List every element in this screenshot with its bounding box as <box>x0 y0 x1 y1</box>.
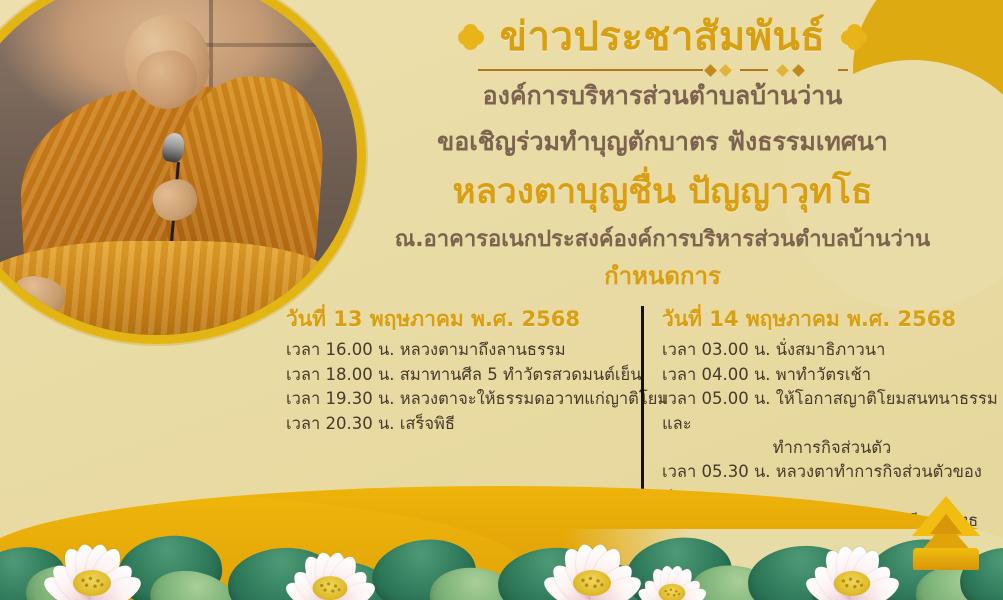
organization-name: องค์การบริหารส่วนตำบลบ้านว่าน <box>330 79 995 113</box>
title-divider-ornament <box>478 63 848 77</box>
schedule-item: เวลา 03.00 น. นั่งสมาธิภาวนา <box>662 338 1002 362</box>
quatrefoil-ornament-left-icon <box>458 24 484 50</box>
band-gold-left <box>0 486 522 600</box>
venue-line: ณ.อาคารอเนกประสงค์องค์การบริหารส่วนตำบลบ… <box>330 225 995 255</box>
band-fade-right <box>564 529 1003 600</box>
schedule-item: เวลา 19.30 น. หลวงตาจะให้ธรรมดอวาทแก่ญาต… <box>286 387 631 411</box>
schedule-item: เวลา 05.00 น. ให้โอกาสญาติโยมสนทนาธรรมแล… <box>662 387 1002 436</box>
schedule-item: เวลา 04.00 น. พาทำวัตรเช้า <box>662 363 1002 387</box>
agenda-heading: กำหนดการ <box>330 262 995 291</box>
title-row: ข่าวประชาสัมพันธ์ <box>330 14 995 60</box>
day1-heading: วันที่ 13 พฤษภาคม พ.ศ. 2568 <box>286 306 631 333</box>
schedule-item: ทำการกิจส่วนตัว <box>662 436 1002 460</box>
monk-name-heading: หลวงตาบุญชื่น ปัญญาวุทโธ <box>330 171 995 215</box>
schedule-item: เวลา 18.00 น. สมาทานศีล 5 ทำวัตรสวดมนต์เ… <box>286 363 631 387</box>
header-block: ข่าวประชาสัมพันธ์ องค์การบริหารส่วนตำบลบ… <box>330 14 995 291</box>
day2-heading: วันที่ 14 พฤษภาคม พ.ศ. 2568 <box>662 306 1002 333</box>
schedule-item: เวลา 20.30 น. เสร็จพิธี <box>286 412 631 436</box>
monk-photo-frame <box>0 0 366 344</box>
announcement-poster: ข่าวประชาสัมพันธ์ องค์การบริหารส่วนตำบลบ… <box>0 0 1003 600</box>
page-title: ข่าวประชาสัมพันธ์ <box>500 14 826 60</box>
invitation-line: ขอเชิญร่วมทำบุญตักบาตร ฟังธรรมเทศนา <box>330 125 995 159</box>
day1-item-list: เวลา 16.00 น. หลวงตามาถึงลานธรรมเวลา 18.… <box>286 338 631 436</box>
monk-portrait-photo <box>0 0 357 335</box>
schedule-column-day1: วันที่ 13 พฤษภาคม พ.ศ. 2568 เวลา 16.00 น… <box>286 306 641 436</box>
schedule-item: เวลา 16.00 น. หลวงตามาถึงลานธรรม <box>286 338 631 362</box>
quatrefoil-ornament-right-icon <box>841 24 867 50</box>
